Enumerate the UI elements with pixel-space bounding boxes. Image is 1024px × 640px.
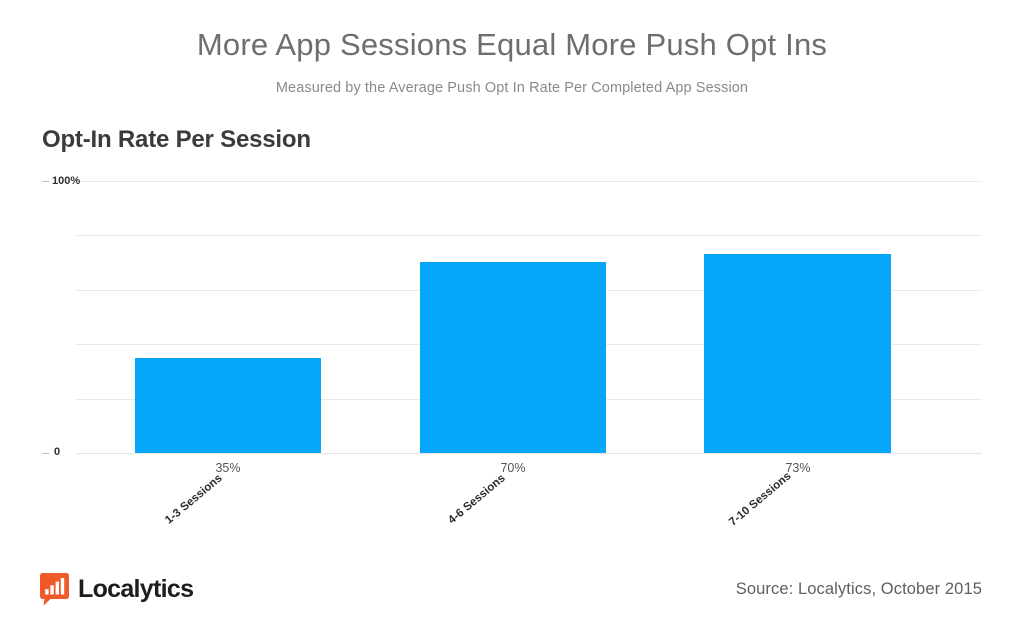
- bar-4-6-sessions[interactable]: [420, 262, 606, 453]
- localytics-bar-chart-bubble-icon: [40, 573, 69, 606]
- category-label-7-10-sessions: 7-10 Sessions: [727, 470, 793, 529]
- chart-plot-area: 100% 0 35% 70% 73% 1-3 Sessions 4-6 Sess…: [0, 0, 1024, 640]
- source-attribution: Source: Localytics, October 2015: [736, 580, 982, 599]
- localytics-logo: Localytics: [40, 573, 193, 606]
- y-axis-tick-100: [42, 181, 49, 182]
- gridline-100: [76, 181, 982, 182]
- gridline-80: [76, 235, 982, 236]
- value-label-4-6-sessions: 70%: [433, 461, 593, 475]
- y-axis-label-min: 0: [54, 446, 60, 458]
- value-label-1-3-sessions: 35%: [148, 461, 308, 475]
- y-axis-label-max: 100%: [52, 175, 80, 187]
- category-label-4-6-sessions: 4-6 Sessions: [446, 472, 508, 526]
- category-label-1-3-sessions: 1-3 Sessions: [163, 472, 225, 526]
- localytics-wordmark: Localytics: [78, 577, 193, 602]
- value-label-7-10-sessions: 73%: [718, 461, 878, 475]
- bar-7-10-sessions[interactable]: [704, 254, 891, 453]
- y-axis-tick-0: [42, 453, 49, 454]
- gridline-0: [76, 453, 982, 454]
- bar-1-3-sessions[interactable]: [135, 358, 321, 453]
